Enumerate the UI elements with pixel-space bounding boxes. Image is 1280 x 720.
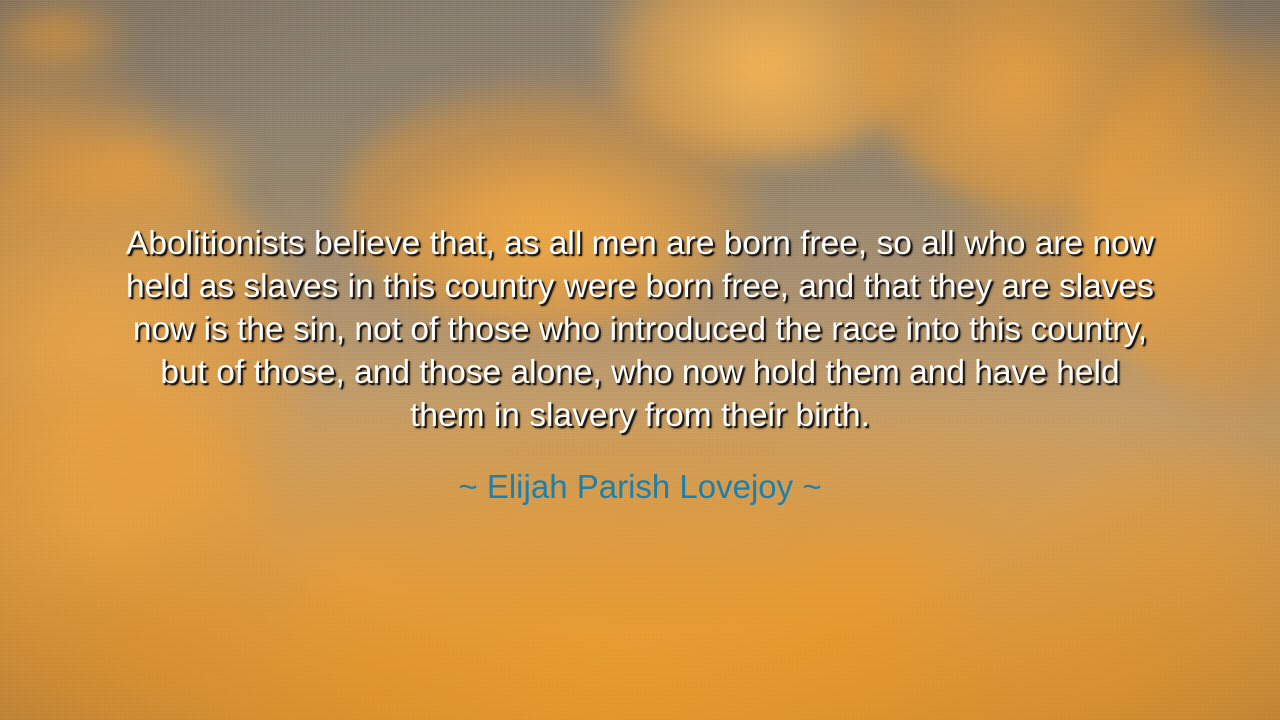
text-layer: Abolitionists believe that, as all men a… [0, 0, 1280, 720]
quote-card: Abolitionists believe that, as all men a… [0, 0, 1280, 720]
quote-text: Abolitionists believe that, as all men a… [120, 222, 1160, 437]
quote-attribution: ~ Elijah Parish Lovejoy ~ [458, 467, 821, 507]
